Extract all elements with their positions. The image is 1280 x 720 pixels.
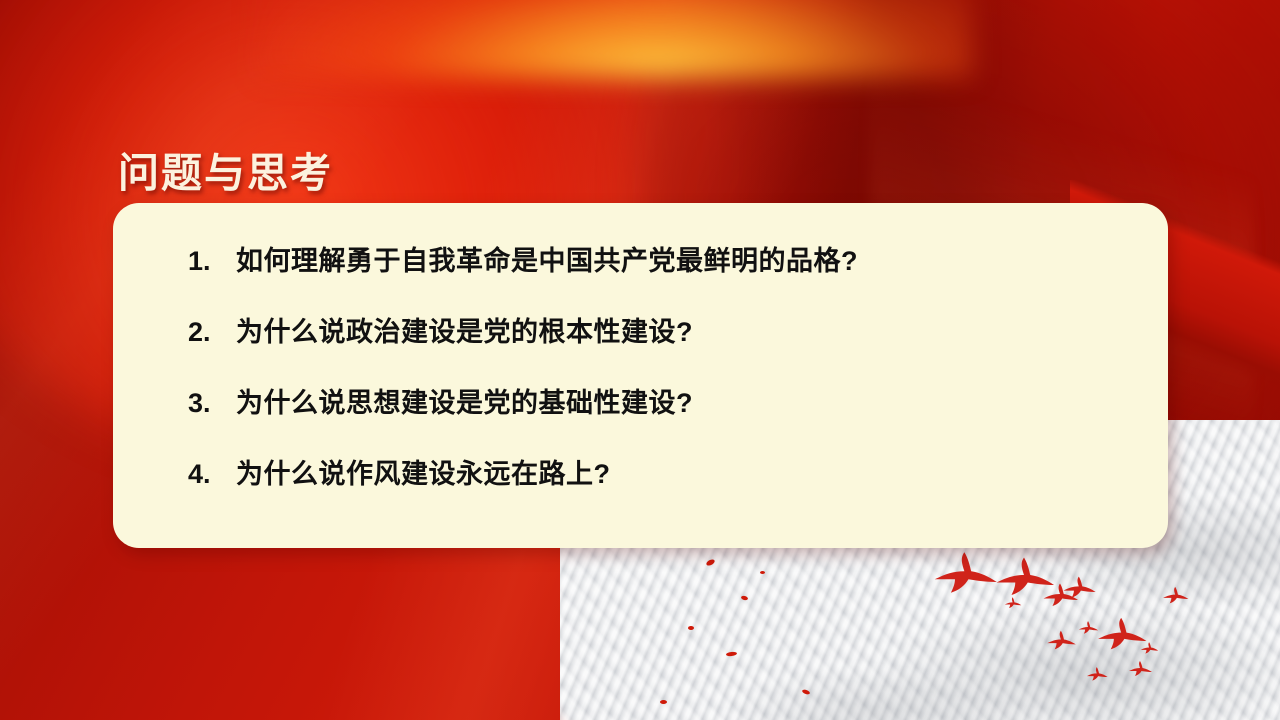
list-item-number: 4. [188,459,236,490]
list-item-number: 3. [188,388,236,419]
dove-icon [1063,577,1095,598]
dove-icon [1087,667,1108,681]
dove-icon [935,552,997,593]
list-item: 3. 为什么说思想建设是党的基础性建设? [188,381,1132,452]
presentation-slide: 问题与思考 1. 如何理解勇于自我革命是中国共产党最鲜明的品格? 2. 为什么说… [0,0,1280,720]
dove-icon [997,558,1055,596]
list-item-number: 1. [188,246,236,277]
list-item: 4. 为什么说作风建设永远在路上? [188,452,1132,523]
dove-icon [1044,584,1079,607]
list-item-number: 2. [188,317,236,348]
questions-card: 1. 如何理解勇于自我革命是中国共产党最鲜明的品格? 2. 为什么说政治建设是党… [113,203,1168,548]
dove-icon [1163,587,1188,604]
page-title: 问题与思考 [118,139,333,199]
dove-icon [1129,661,1152,676]
dove-icon [1047,631,1076,650]
dove-icon [1141,642,1158,653]
list-item-text: 为什么说思想建设是党的基础性建设? [236,381,693,420]
dove-icon [1079,621,1098,634]
dove-icon [1005,597,1022,608]
list-item-text: 为什么说政治建设是党的根本性建设? [236,310,693,349]
list-item-text: 为什么说作风建设永远在路上? [236,452,611,491]
questions-list: 1. 如何理解勇于自我革命是中国共产党最鲜明的品格? 2. 为什么说政治建设是党… [188,239,1132,523]
dove-icon [1098,618,1146,650]
list-item: 1. 如何理解勇于自我革命是中国共产党最鲜明的品格? [188,239,1132,310]
list-item: 2. 为什么说政治建设是党的根本性建设? [188,310,1132,381]
list-item-text: 如何理解勇于自我革命是中国共产党最鲜明的品格? [236,239,858,278]
